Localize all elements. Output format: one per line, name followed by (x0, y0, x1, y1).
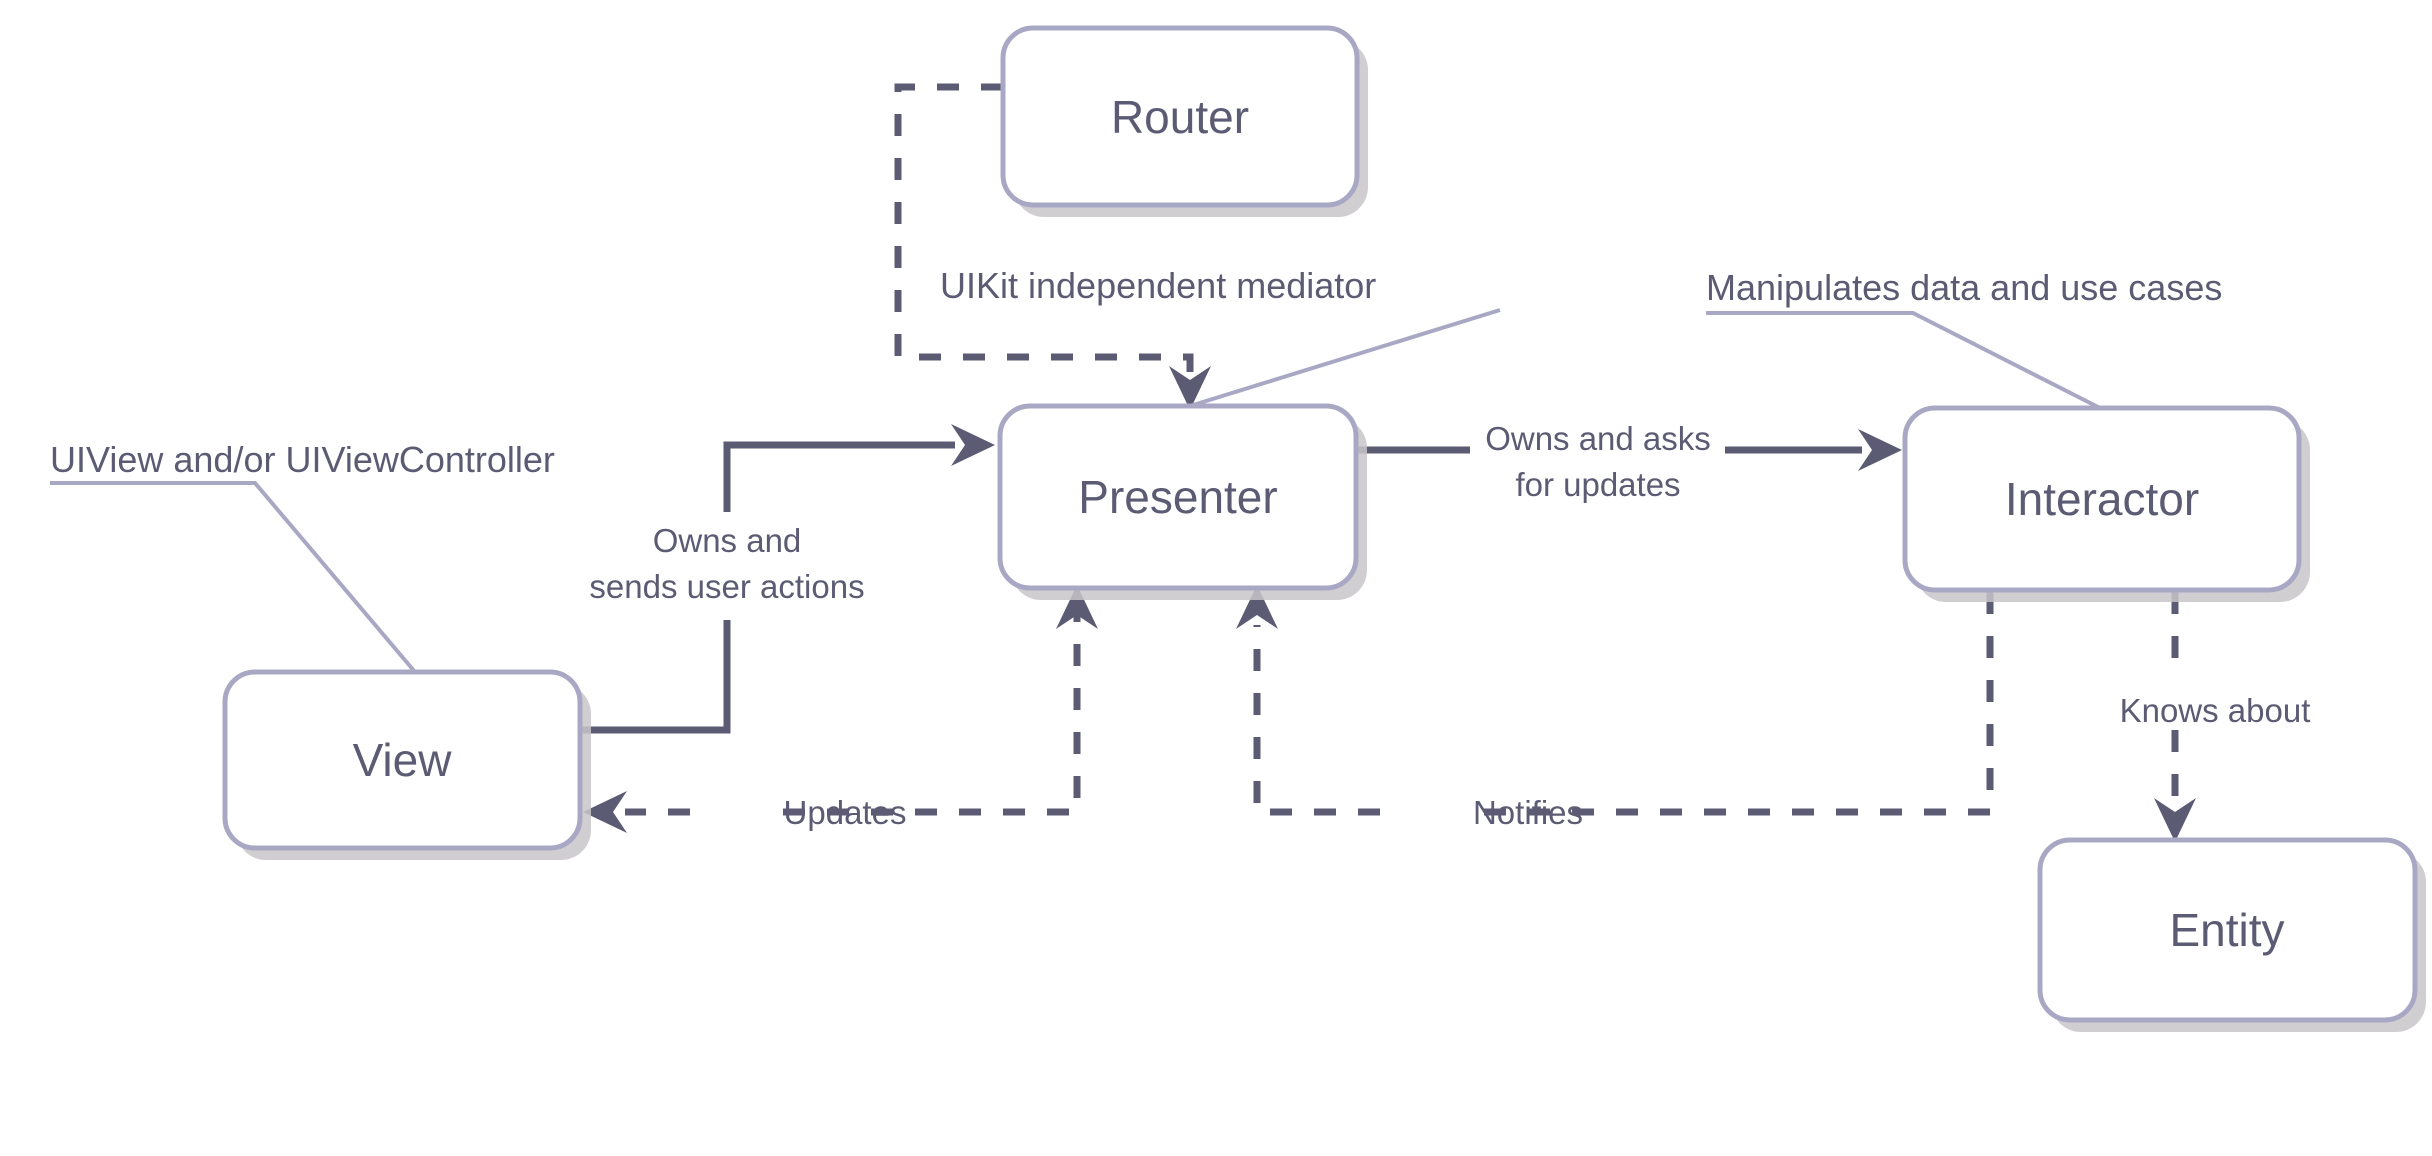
edge-label-notifies: Notifies (1473, 794, 1583, 831)
annotation-interactor-note: Manipulates data and use cases (1706, 267, 2222, 308)
edge-label-view-to-presenter: Owns and sends user actions (589, 522, 864, 605)
edge-label-sends-user-actions: sends user actions (589, 568, 864, 605)
leader-line-view-note (50, 483, 415, 672)
edge-interactor-to-presenter (1236, 585, 1990, 812)
node-entity[interactable]: Entity (2040, 840, 2426, 1032)
view-label: View (353, 734, 453, 786)
edge-label-presenter-to-interactor: Owns and asks for updates (1485, 420, 1711, 503)
edge-label-owns-and-asks: Owns and asks (1485, 420, 1711, 457)
edge-label-updates: Updates (784, 794, 907, 831)
node-interactor[interactable]: Interactor (1905, 408, 2310, 602)
edge-label-owns-and: Owns and (653, 522, 802, 559)
interactor-label: Interactor (2005, 473, 2199, 525)
arrowhead-presenter-to-interactor (1858, 429, 1902, 471)
leader-line-presenter-note (1190, 310, 1500, 406)
diagram-canvas: Router Presenter Interactor View Entity (0, 0, 2432, 1156)
annotation-presenter-note: UIKit independent mediator (940, 265, 1376, 306)
annotation-view-note: UIView and/or UIViewController (50, 439, 555, 480)
entity-label: Entity (2169, 904, 2284, 956)
presenter-label: Presenter (1078, 471, 1277, 523)
node-presenter[interactable]: Presenter (1000, 406, 1367, 600)
node-router[interactable]: Router (1003, 28, 1368, 217)
node-view[interactable]: View (225, 672, 591, 860)
edge-label-for-updates: for updates (1515, 466, 1680, 503)
router-label: Router (1111, 91, 1249, 143)
edge-label-knows-about: Knows about (2120, 692, 2311, 729)
viper-architecture-diagram: Router Presenter Interactor View Entity (0, 0, 2432, 1156)
leader-line-interactor-note (1706, 313, 2100, 408)
arrowhead-interactor-to-entity (2154, 798, 2196, 842)
arrowhead-view-to-presenter (951, 424, 995, 466)
